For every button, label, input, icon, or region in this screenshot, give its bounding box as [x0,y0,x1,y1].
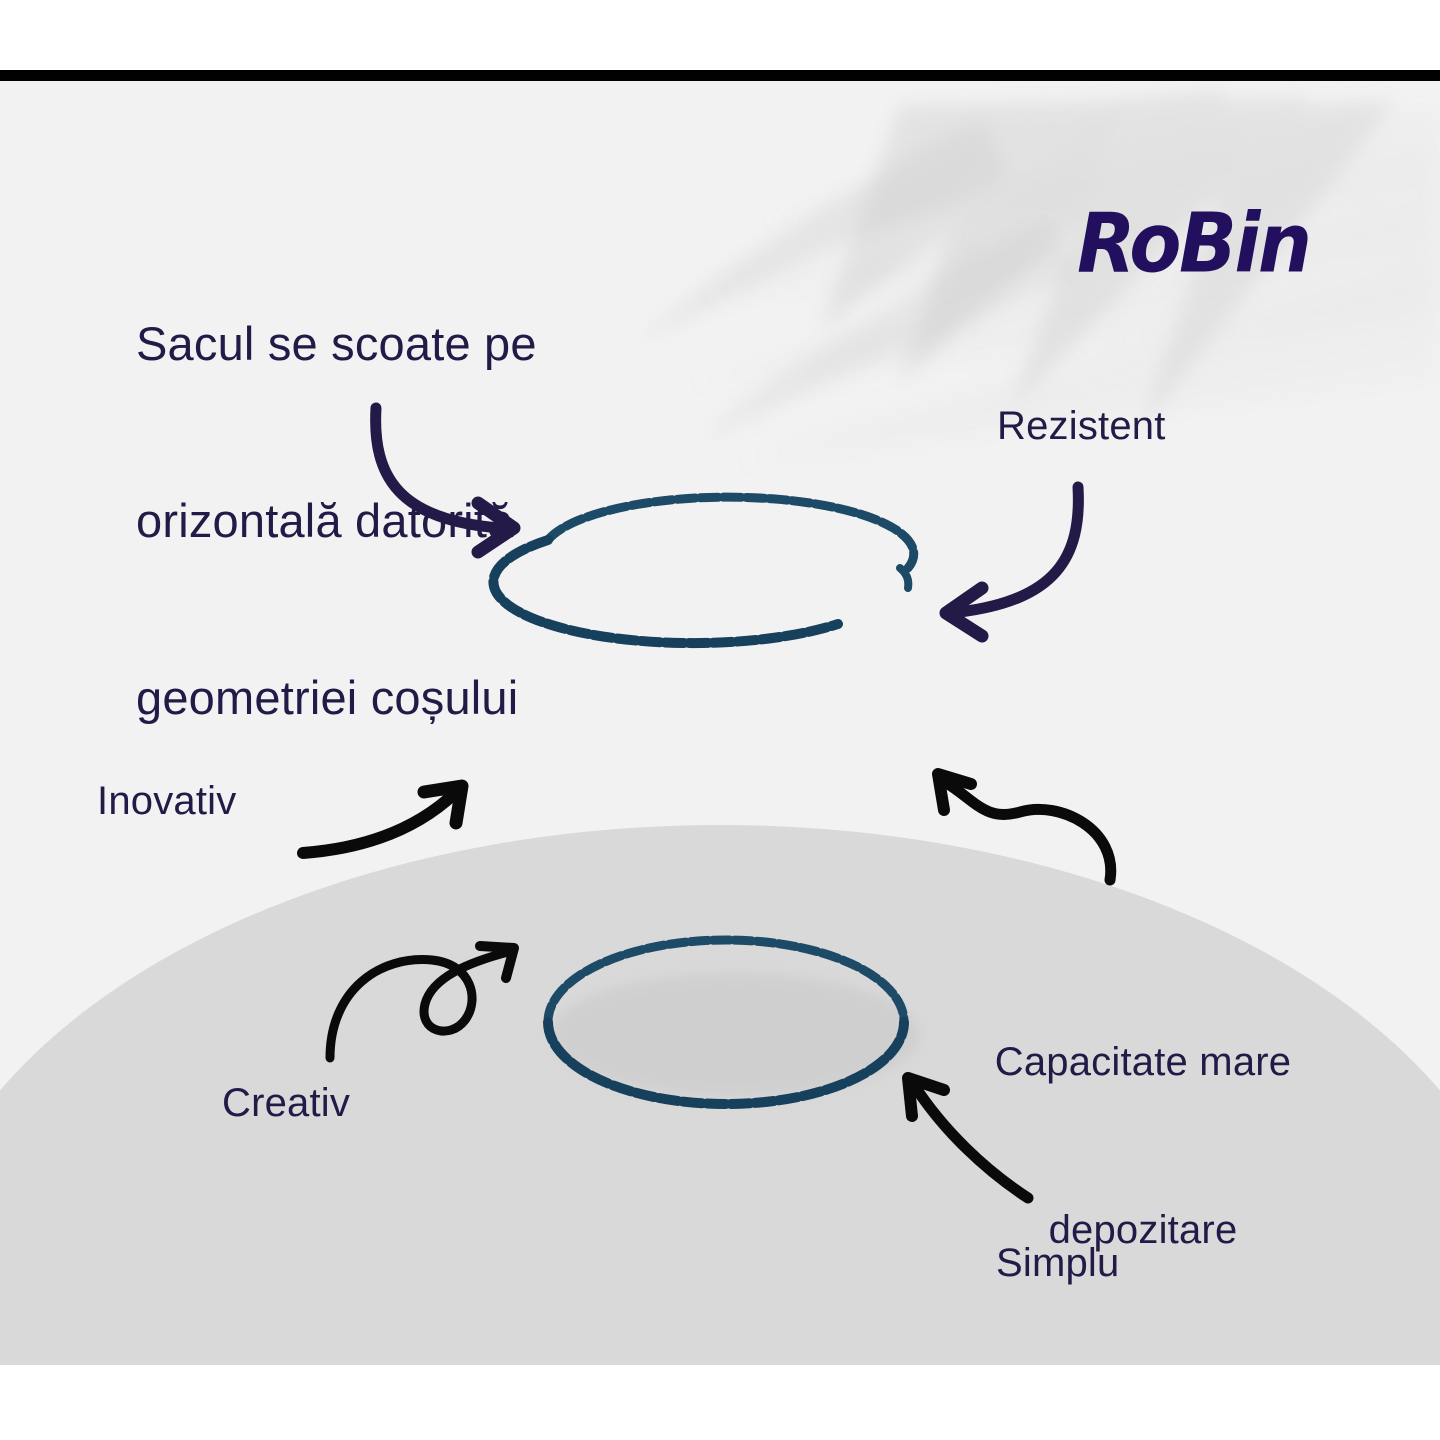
brand-logo: RoBin [1077,195,1310,291]
headline-line-2: orizontală datorită [136,491,537,550]
capacitate-line-1: Capacitate mare [933,1034,1353,1090]
bottom-white-margin [0,1365,1440,1440]
product-infographic: Sacul se scoate pe orizontală datorită g… [0,0,1440,1440]
feature-label-creativ: Creativ [222,1081,350,1126]
top-white-margin [0,0,1440,70]
feature-label-rezistent: Rezistent [997,404,1166,449]
headline-text: Sacul se scoate pe orizontală datorită g… [136,196,537,845]
feature-label-inovativ: Inovativ [97,779,236,824]
top-black-bar [0,70,1440,81]
headline-line-3: geometriei coșului [136,668,537,727]
feature-label-capacitate: Capacitate mare depozitare [933,922,1353,1370]
headline-line-1: Sacul se scoate pe [136,314,537,373]
capacitate-line-2: depozitare [933,1202,1353,1258]
